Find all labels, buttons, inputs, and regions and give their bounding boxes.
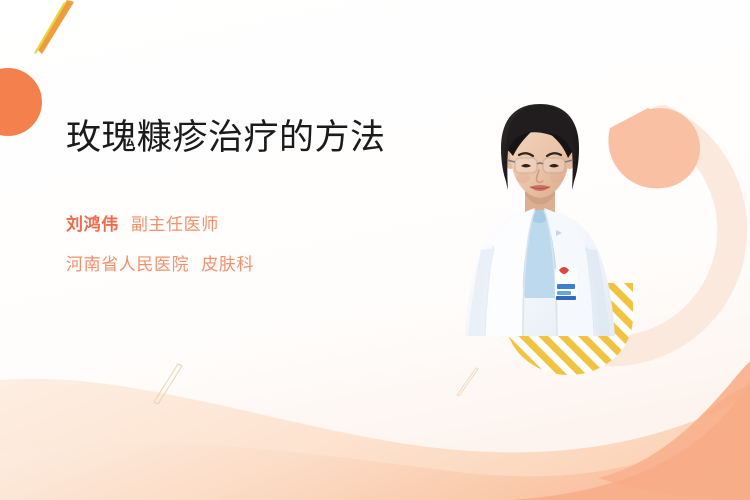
doctor-name: 刘鸿伟: [66, 215, 119, 235]
doctor-rank: 副主任医师: [131, 215, 219, 235]
hospital-department: 皮肤科: [201, 255, 254, 275]
hospital-row: 河南省人民医院皮肤科: [66, 250, 406, 275]
doctor-name-row: 刘鸿伟副主任医师: [66, 210, 406, 235]
doctor-video-thumbnail-card: 玫瑰糠疹治疗的方法 刘鸿伟副主任医师 河南省人民医院皮肤科: [0, 0, 750, 500]
hospital-name: 河南省人民医院: [66, 255, 189, 275]
text-content-block: 玫瑰糠疹治疗的方法 刘鸿伟副主任医师 河南省人民医院皮肤科: [66, 116, 406, 275]
orange-slash-icon: [38, 0, 74, 54]
page-title: 玫瑰糠疹治疗的方法: [66, 116, 388, 160]
yellow-slash-icon: [34, 2, 66, 54]
